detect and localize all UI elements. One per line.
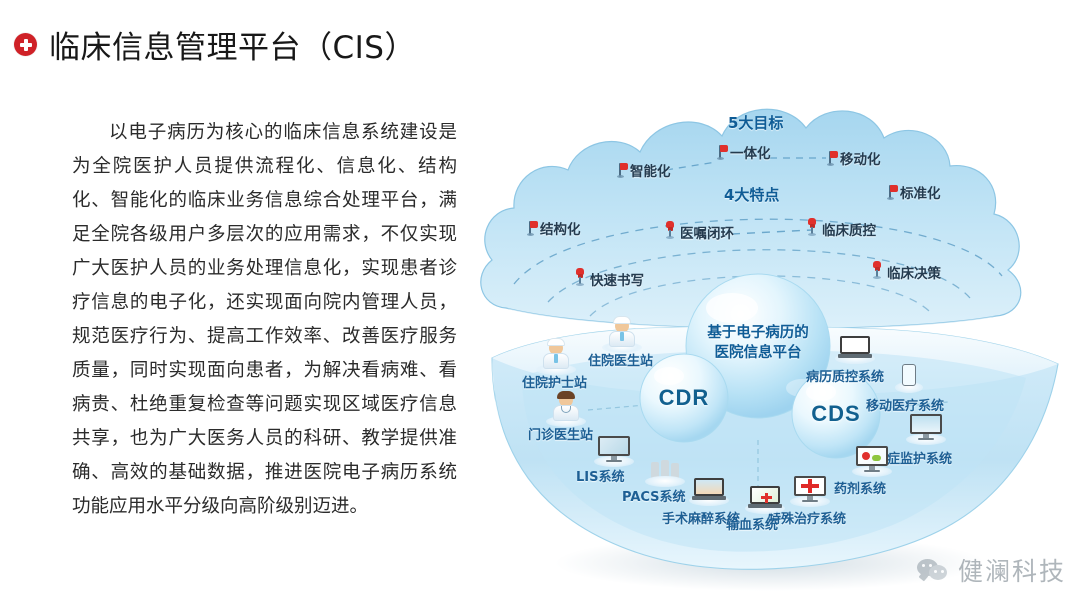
slide-page: 临床信息管理平台（CIS） 以电子病历为核心的临床信息系统建设是为全院医护人员提… xyxy=(0,0,1080,608)
bubble-cds: CDS xyxy=(799,401,873,427)
system-label-mobile-medical: 移动医疗系统 xyxy=(866,395,944,414)
pushpin-icon xyxy=(871,261,883,278)
pushpin-icon xyxy=(806,218,818,235)
pushpin-icon xyxy=(574,268,586,285)
cis-architecture-diagram: 5大目标 4大特点 一体化 移动化 智能化 标准化 结构化 医嘱闭环 临床质控 … xyxy=(470,58,1080,608)
watermark: 健澜科技 xyxy=(917,552,1066,588)
blood-bag-icon xyxy=(748,486,782,509)
laptop-icon xyxy=(838,336,872,359)
system-label-inpatient-nurse-station: 住院护士站 xyxy=(522,372,587,391)
flag-pin-icon xyxy=(524,220,537,236)
pushpin-icon xyxy=(664,221,676,238)
core-platform-line1: 基于电子病历的 xyxy=(663,323,853,343)
bubble-cdr: CDR xyxy=(647,385,721,411)
laptop-icon xyxy=(692,478,726,501)
flag-pin-icon xyxy=(824,150,837,166)
page-title-text: 临床信息管理平台（CIS） xyxy=(49,22,416,67)
system-label-blood-transfusion: 输血系统 xyxy=(726,514,778,533)
system-label-inpatient-doctor-station: 住院医生站 xyxy=(588,350,653,369)
monitor-pills-icon xyxy=(856,446,888,472)
flag-pin-icon xyxy=(714,144,727,160)
lab-analyzer-icon xyxy=(598,436,630,462)
monitor-cross-icon xyxy=(794,476,826,502)
page-title: 临床信息管理平台（CIS） xyxy=(14,22,416,67)
system-label-outpatient-doctor-station: 门诊医生站 xyxy=(528,424,593,443)
xray-film-icon xyxy=(650,458,680,482)
monitor-icon xyxy=(910,414,942,440)
nurse-person-icon xyxy=(608,316,636,348)
system-label-record-qc: 病历质控系统 xyxy=(806,366,884,385)
core-platform-line2: 医院信息平台 xyxy=(663,343,853,363)
body-paragraph: 以电子病历为核心的临床信息系统建设是为全院医护人员提供流程化、信息化、结构化、智… xyxy=(72,116,457,524)
phone-icon xyxy=(902,364,916,388)
red-cross-circle-icon xyxy=(14,33,37,56)
watermark-text: 健澜科技 xyxy=(958,552,1066,588)
doctor-person-icon xyxy=(542,338,570,370)
system-label-lis: LIS系统 xyxy=(576,466,624,485)
doctor-person-icon xyxy=(552,390,580,422)
flag-pin-icon xyxy=(884,184,897,200)
system-label-pacs: PACS系统 xyxy=(622,486,686,505)
system-label-pharmacy: 药剂系统 xyxy=(834,478,886,497)
wechat-icon xyxy=(917,558,949,582)
flag-pin-icon xyxy=(614,162,627,178)
